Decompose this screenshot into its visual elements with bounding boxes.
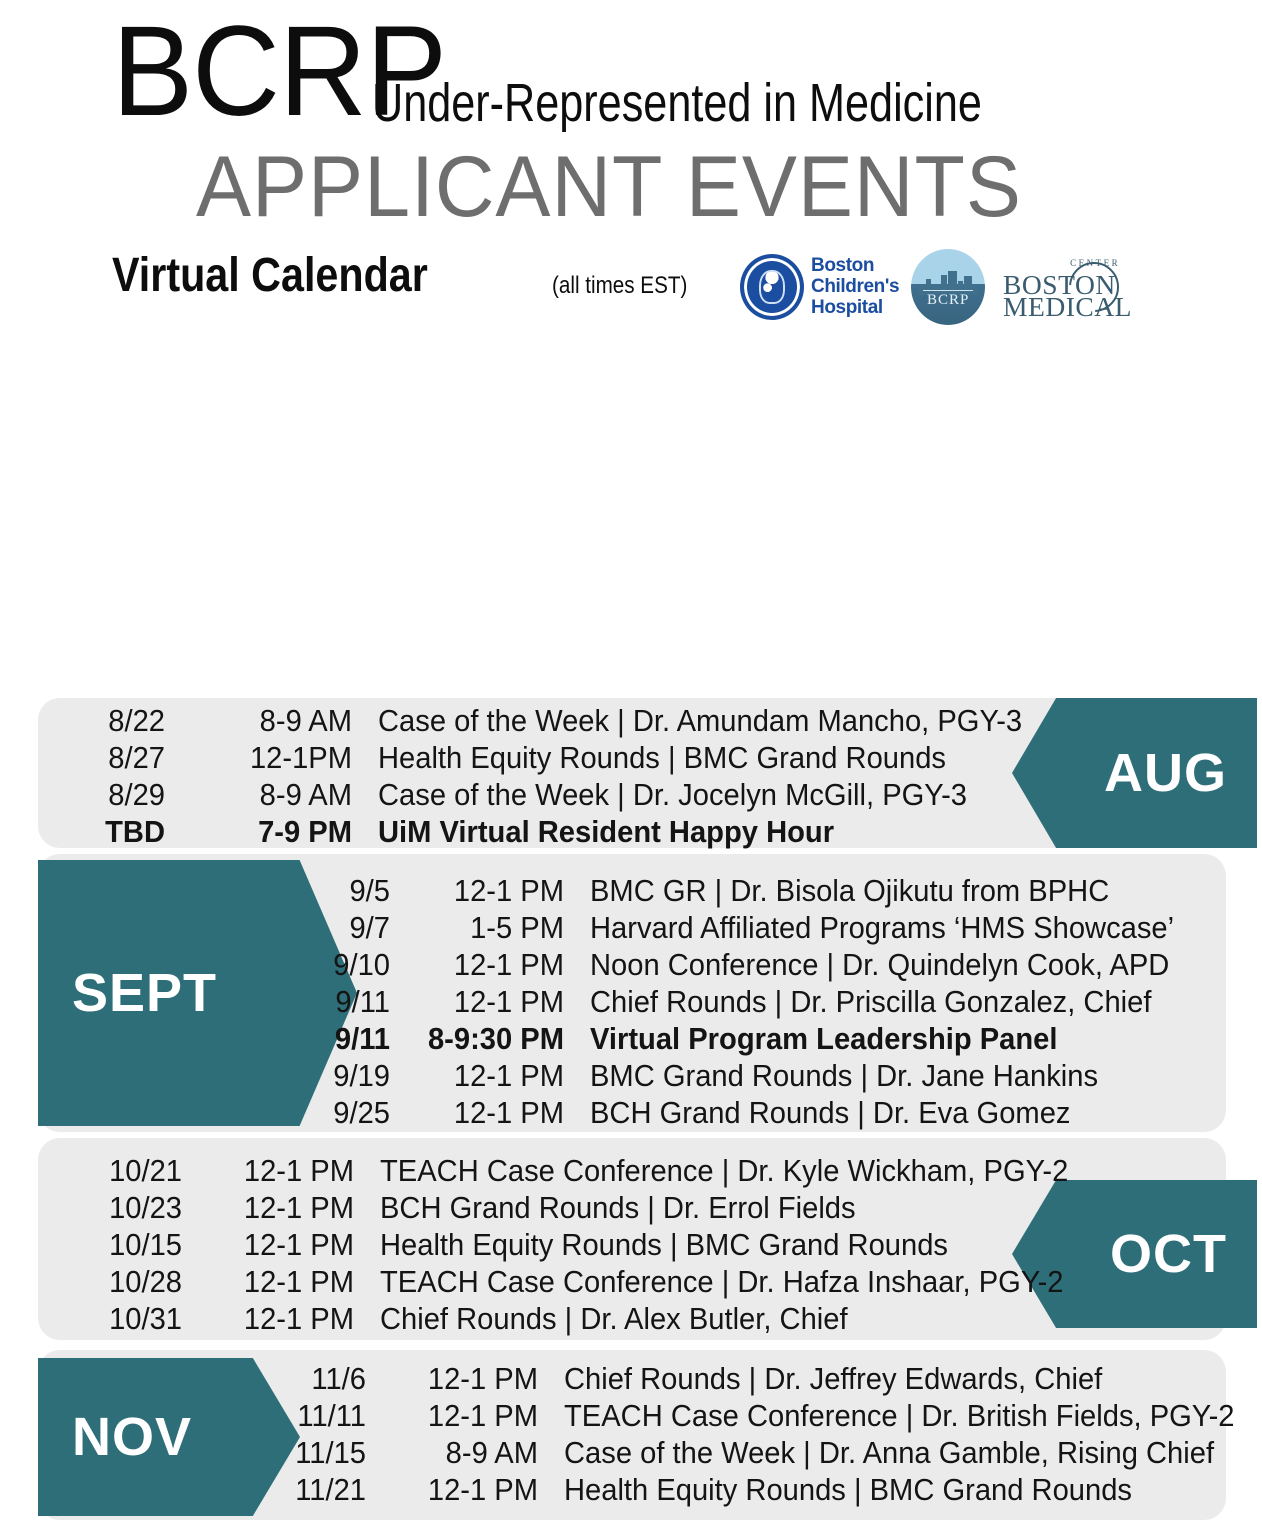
event-time: 8-9:30 PM xyxy=(421,1020,564,1057)
bch-line-2: Children's xyxy=(811,277,899,296)
event-description: UiM Virtual Resident Happy Hour xyxy=(378,813,834,850)
poster-header: BCRP Under-Represented in Medicine APPLI… xyxy=(0,0,1262,340)
event-row: 11/612-1 PMChief Rounds | Dr. Jeffrey Ed… xyxy=(244,1360,1262,1397)
event-description: BCH Grand Rounds | Dr. Eva Gomez xyxy=(590,1094,1070,1131)
event-description: Case of the Week | Dr. Anna Gamble, Risi… xyxy=(564,1434,1214,1471)
event-description: Chief Rounds | Dr. Alex Butler, Chief xyxy=(380,1300,848,1337)
event-time: 12-1 PM xyxy=(421,1057,564,1094)
event-row: 10/1512-1 PMHealth Equity Rounds | BMC G… xyxy=(52,1226,1112,1263)
event-row: 11/1112-1 PMTEACH Case Conference | Dr. … xyxy=(244,1397,1262,1434)
event-date: 9/11 xyxy=(307,1020,390,1057)
event-time: 1-5 PM xyxy=(421,909,564,946)
boston-childrens-wordmark: Boston Children's Hospital xyxy=(811,256,899,319)
event-row: 9/1012-1 PMNoon Conference | Dr. Quindel… xyxy=(302,946,1211,983)
event-date: 10/31 xyxy=(60,1300,182,1337)
bch-line-1: Boston xyxy=(811,256,899,275)
event-description: Chief Rounds | Dr. Jeffrey Edwards, Chie… xyxy=(564,1360,1102,1397)
logo-row: Boston Children's Hospital BCRP CENTER xyxy=(740,246,1137,328)
event-date: TBD xyxy=(66,813,165,850)
boston-medical-center-logo: CENTER BOSTON MEDICAL xyxy=(997,256,1137,318)
month-label: OCT xyxy=(1110,1227,1227,1281)
event-row: 9/118-9:30 PMVirtual Program Leadership … xyxy=(302,1020,1211,1057)
event-description: Noon Conference | Dr. Quindelyn Cook, AP… xyxy=(590,946,1169,983)
calendar-label: Virtual Calendar xyxy=(112,252,428,300)
event-description: Health Equity Rounds | BMC Grand Rounds xyxy=(380,1226,948,1263)
event-date: 11/15 xyxy=(251,1434,366,1471)
event-time: 12-1 PM xyxy=(421,1094,564,1131)
event-list: 10/2112-1 PMTEACH Case Conference | Dr. … xyxy=(52,1152,1112,1337)
event-description: BMC GR | Dr. Bisola Ojikutu from BPHC xyxy=(590,872,1109,909)
event-row: 9/512-1 PMBMC GR | Dr. Bisola Ojikutu fr… xyxy=(302,872,1211,909)
event-date: 8/22 xyxy=(66,702,165,739)
bcrp-logo-rule xyxy=(923,290,973,291)
event-description: BMC Grand Rounds | Dr. Jane Hankins xyxy=(590,1057,1098,1094)
event-date: 9/10 xyxy=(307,946,390,983)
calendar-timezone-note: (all times EST) xyxy=(552,274,687,298)
event-list: 11/612-1 PMChief Rounds | Dr. Jeffrey Ed… xyxy=(244,1360,1262,1508)
event-description: TEACH Case Conference | Dr. Hafza Inshaa… xyxy=(380,1263,1063,1300)
event-time: 12-1 PM xyxy=(213,1263,354,1300)
event-date: 11/21 xyxy=(251,1471,366,1508)
event-date: 8/29 xyxy=(66,776,165,813)
event-description: Case of the Week | Dr. Amundam Mancho, P… xyxy=(378,702,1022,739)
event-time: 8-9 AM xyxy=(197,702,352,739)
month-label: AUG xyxy=(1104,746,1227,800)
event-time: 12-1 PM xyxy=(397,1360,538,1397)
event-list: 8/228-9 AMCase of the Week | Dr. Amundam… xyxy=(60,702,1063,850)
event-description: Chief Rounds | Dr. Priscilla Gonzalez, C… xyxy=(590,983,1151,1020)
event-description: Harvard Affiliated Programs ‘HMS Showcas… xyxy=(590,909,1174,946)
event-description: BCH Grand Rounds | Dr. Errol Fields xyxy=(380,1189,856,1226)
event-row: 10/2812-1 PMTEACH Case Conference | Dr. … xyxy=(52,1263,1112,1300)
event-date: 9/25 xyxy=(307,1094,390,1131)
boston-childrens-hospital-logo: Boston Children's Hospital xyxy=(740,254,899,320)
event-date: 9/11 xyxy=(307,983,390,1020)
event-time: 12-1 PM xyxy=(421,983,564,1020)
event-date: 11/6 xyxy=(251,1360,366,1397)
event-row: 11/158-9 AMCase of the Week | Dr. Anna G… xyxy=(244,1434,1262,1471)
event-row: 10/2312-1 PMBCH Grand Rounds | Dr. Errol… xyxy=(52,1189,1112,1226)
event-row: 8/228-9 AMCase of the Week | Dr. Amundam… xyxy=(60,702,1063,739)
event-description: Virtual Program Leadership Panel xyxy=(590,1020,1057,1057)
brand-subtitle: Under-Represented in Medicine xyxy=(372,76,982,130)
event-time: 8-9 AM xyxy=(397,1434,538,1471)
event-time: 8-9 AM xyxy=(197,776,352,813)
event-date: 9/7 xyxy=(307,909,390,946)
event-row: 9/2512-1 PMBCH Grand Rounds | Dr. Eva Go… xyxy=(302,1094,1211,1131)
event-time: 12-1 PM xyxy=(397,1397,538,1434)
event-time: 12-1 PM xyxy=(397,1471,538,1508)
bcrp-logo: BCRP xyxy=(911,249,985,325)
bcrp-logo-wordmark: BCRP xyxy=(911,292,985,309)
event-description: Health Equity Rounds | BMC Grand Rounds xyxy=(378,739,946,776)
event-date: 11/11 xyxy=(251,1397,366,1434)
event-row: 9/1112-1 PMChief Rounds | Dr. Priscilla … xyxy=(302,983,1211,1020)
event-description: Health Equity Rounds | BMC Grand Rounds xyxy=(564,1471,1132,1508)
event-row: TBD7-9 PMUiM Virtual Resident Happy Hour xyxy=(60,813,1063,850)
event-row: 9/71-5 PMHarvard Affiliated Programs ‘HM… xyxy=(302,909,1211,946)
event-description: Case of the Week | Dr. Jocelyn McGill, P… xyxy=(378,776,967,813)
event-row: 8/298-9 AMCase of the Week | Dr. Jocelyn… xyxy=(60,776,1063,813)
event-time: 12-1 PM xyxy=(421,872,564,909)
month-label: NOV xyxy=(72,1410,192,1464)
event-time: 12-1 PM xyxy=(213,1300,354,1337)
boston-childrens-seal-icon xyxy=(740,254,804,320)
bch-line-3: Hospital xyxy=(811,298,899,317)
event-date: 8/27 xyxy=(66,739,165,776)
event-row: 8/2712-1PMHealth Equity Rounds | BMC Gra… xyxy=(60,739,1063,776)
event-time: 12-1 PM xyxy=(421,946,564,983)
event-row: 11/2112-1 PMHealth Equity Rounds | BMC G… xyxy=(244,1471,1262,1508)
bmc-line-2: MEDICAL xyxy=(1003,294,1132,320)
event-time: 12-1 PM xyxy=(213,1226,354,1263)
event-description: TEACH Case Conference | Dr. Kyle Wickham… xyxy=(380,1152,1068,1189)
event-date: 9/5 xyxy=(307,872,390,909)
event-time: 12-1 PM xyxy=(213,1152,354,1189)
event-date: 9/19 xyxy=(307,1057,390,1094)
event-time: 12-1PM xyxy=(197,739,352,776)
event-time: 12-1 PM xyxy=(213,1189,354,1226)
event-date: 10/23 xyxy=(60,1189,182,1226)
event-time: 7-9 PM xyxy=(197,813,352,850)
event-date: 10/15 xyxy=(60,1226,182,1263)
month-label: SEPT xyxy=(72,966,217,1020)
event-date: 10/28 xyxy=(60,1263,182,1300)
event-date: 10/21 xyxy=(60,1152,182,1189)
event-list: 9/512-1 PMBMC GR | Dr. Bisola Ojikutu fr… xyxy=(302,872,1211,1131)
event-row: 9/1912-1 PMBMC Grand Rounds | Dr. Jane H… xyxy=(302,1057,1211,1094)
page-title: APPLICANT EVENTS xyxy=(196,144,1022,230)
event-row: 10/3112-1 PMChief Rounds | Dr. Alex Butl… xyxy=(52,1300,1112,1337)
event-description: TEACH Case Conference | Dr. British Fiel… xyxy=(564,1397,1234,1434)
event-row: 10/2112-1 PMTEACH Case Conference | Dr. … xyxy=(52,1152,1112,1189)
